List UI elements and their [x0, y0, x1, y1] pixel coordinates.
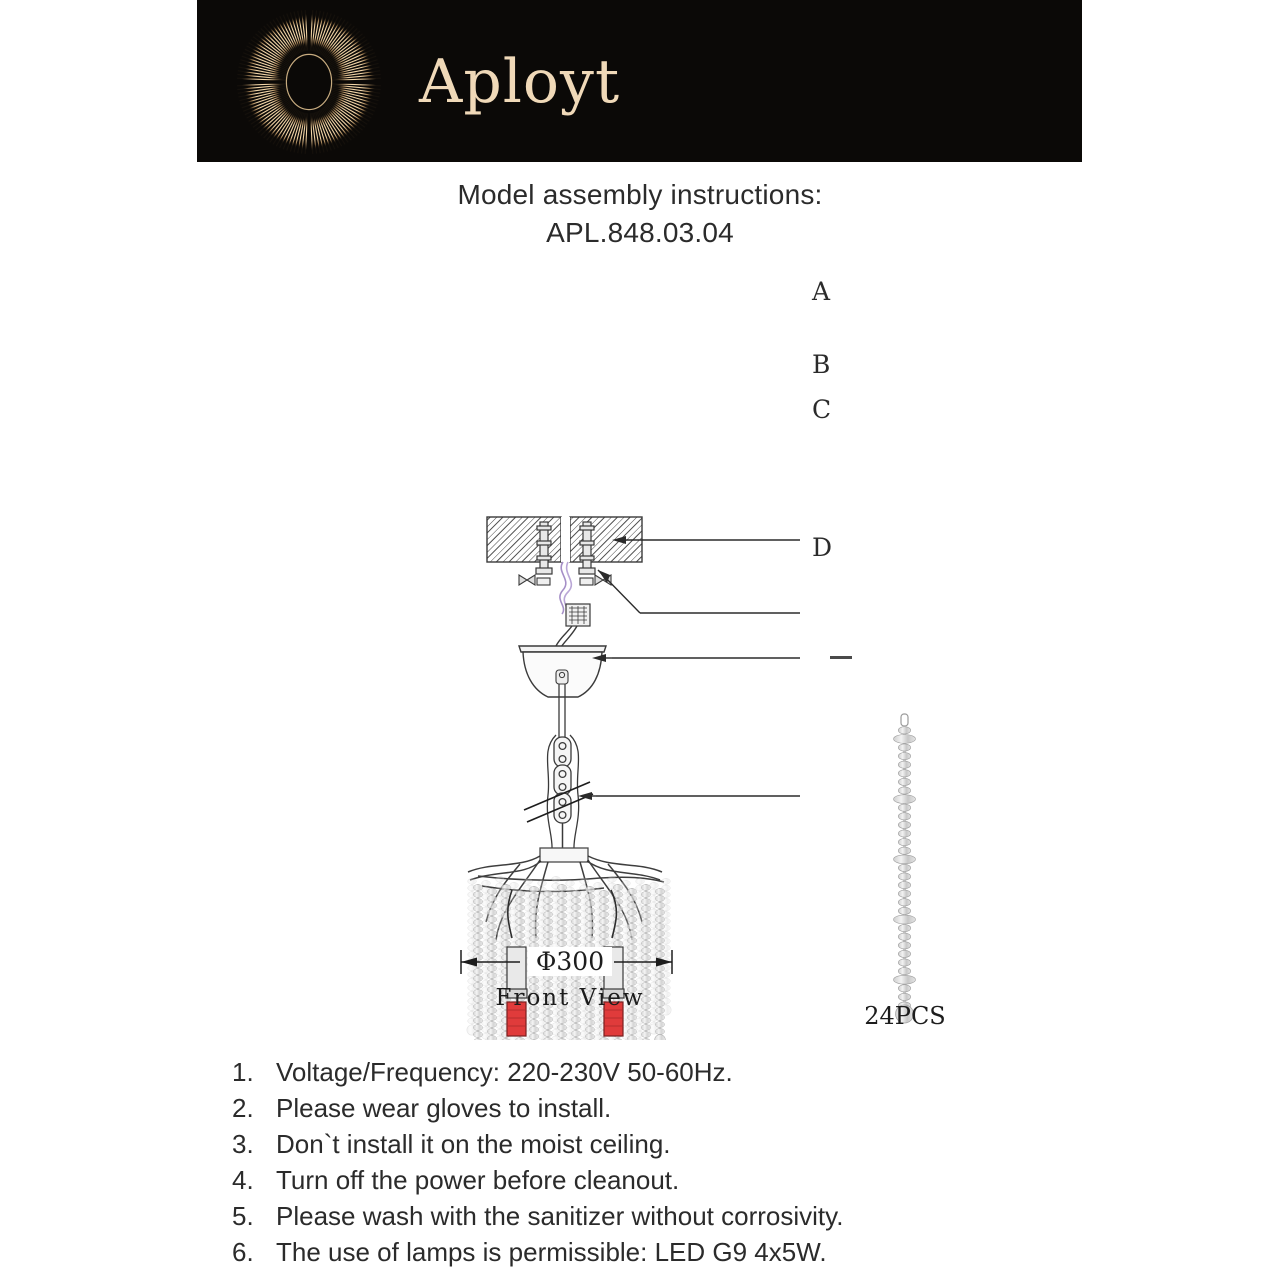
callout-label-c: C — [812, 395, 831, 424]
title-line-1: Model assembly instructions: — [0, 176, 1280, 214]
instruction-number: 6. — [232, 1237, 276, 1268]
chandelier-body — [467, 848, 671, 1040]
instruction-item: 2. Please wear gloves to install. — [232, 1093, 1132, 1129]
header-banner: Aployt — [197, 0, 1082, 162]
instruction-item: 3. Don`t install it on the moist ceiling… — [232, 1129, 1132, 1165]
instructions-list: 1. Voltage/Frequency: 220-230V 50-60Hz. … — [232, 1057, 1132, 1273]
instruction-item: 6. The use of lamps is permissible: LED … — [232, 1237, 1132, 1273]
suspension-chain — [547, 684, 578, 850]
crystal-strand-part — [894, 714, 916, 1023]
instruction-item: 1. Voltage/Frequency: 220-230V 50-60Hz. — [232, 1057, 1132, 1093]
brand-wordmark: Aployt — [419, 36, 679, 128]
page-title: Model assembly instructions: APL.848.03.… — [0, 176, 1280, 252]
instruction-number: 2. — [232, 1093, 276, 1124]
callout-label-a: A — [812, 277, 830, 306]
view-label: Front View — [455, 985, 685, 1011]
instruction-text: The use of lamps is permissible: LED G9 … — [276, 1237, 827, 1268]
radiating-lines-icon — [662, 0, 1082, 162]
part-quantity-label: 24PCS — [845, 1002, 965, 1030]
instruction-text: Please wash with the sanitizer without c… — [276, 1201, 843, 1232]
dash-marker — [830, 656, 852, 659]
instruction-number: 4. — [232, 1165, 276, 1196]
instruction-item: 5. Please wash with the sanitizer withou… — [232, 1201, 1132, 1237]
callout-label-d: D — [812, 533, 832, 562]
instruction-text: Please wear gloves to install. — [276, 1093, 611, 1124]
instruction-text: Voltage/Frequency: 220-230V 50-60Hz. — [276, 1057, 733, 1088]
instruction-number: 5. — [232, 1201, 276, 1232]
callout-label-b: B — [812, 350, 830, 379]
instruction-item: 4. Turn off the power before cleanout. — [232, 1165, 1132, 1201]
sunburst-logo-icon — [235, 8, 383, 156]
terminal-block — [566, 604, 590, 626]
instruction-text: Turn off the power before cleanout. — [276, 1165, 679, 1196]
canopy-cover — [519, 646, 606, 697]
assembly-diagram — [0, 250, 1080, 1040]
instruction-number: 3. — [232, 1129, 276, 1160]
instruction-number: 1. — [232, 1057, 276, 1088]
instruction-text: Don`t install it on the moist ceiling. — [276, 1129, 671, 1160]
title-line-2: APL.848.03.04 — [0, 214, 1280, 252]
